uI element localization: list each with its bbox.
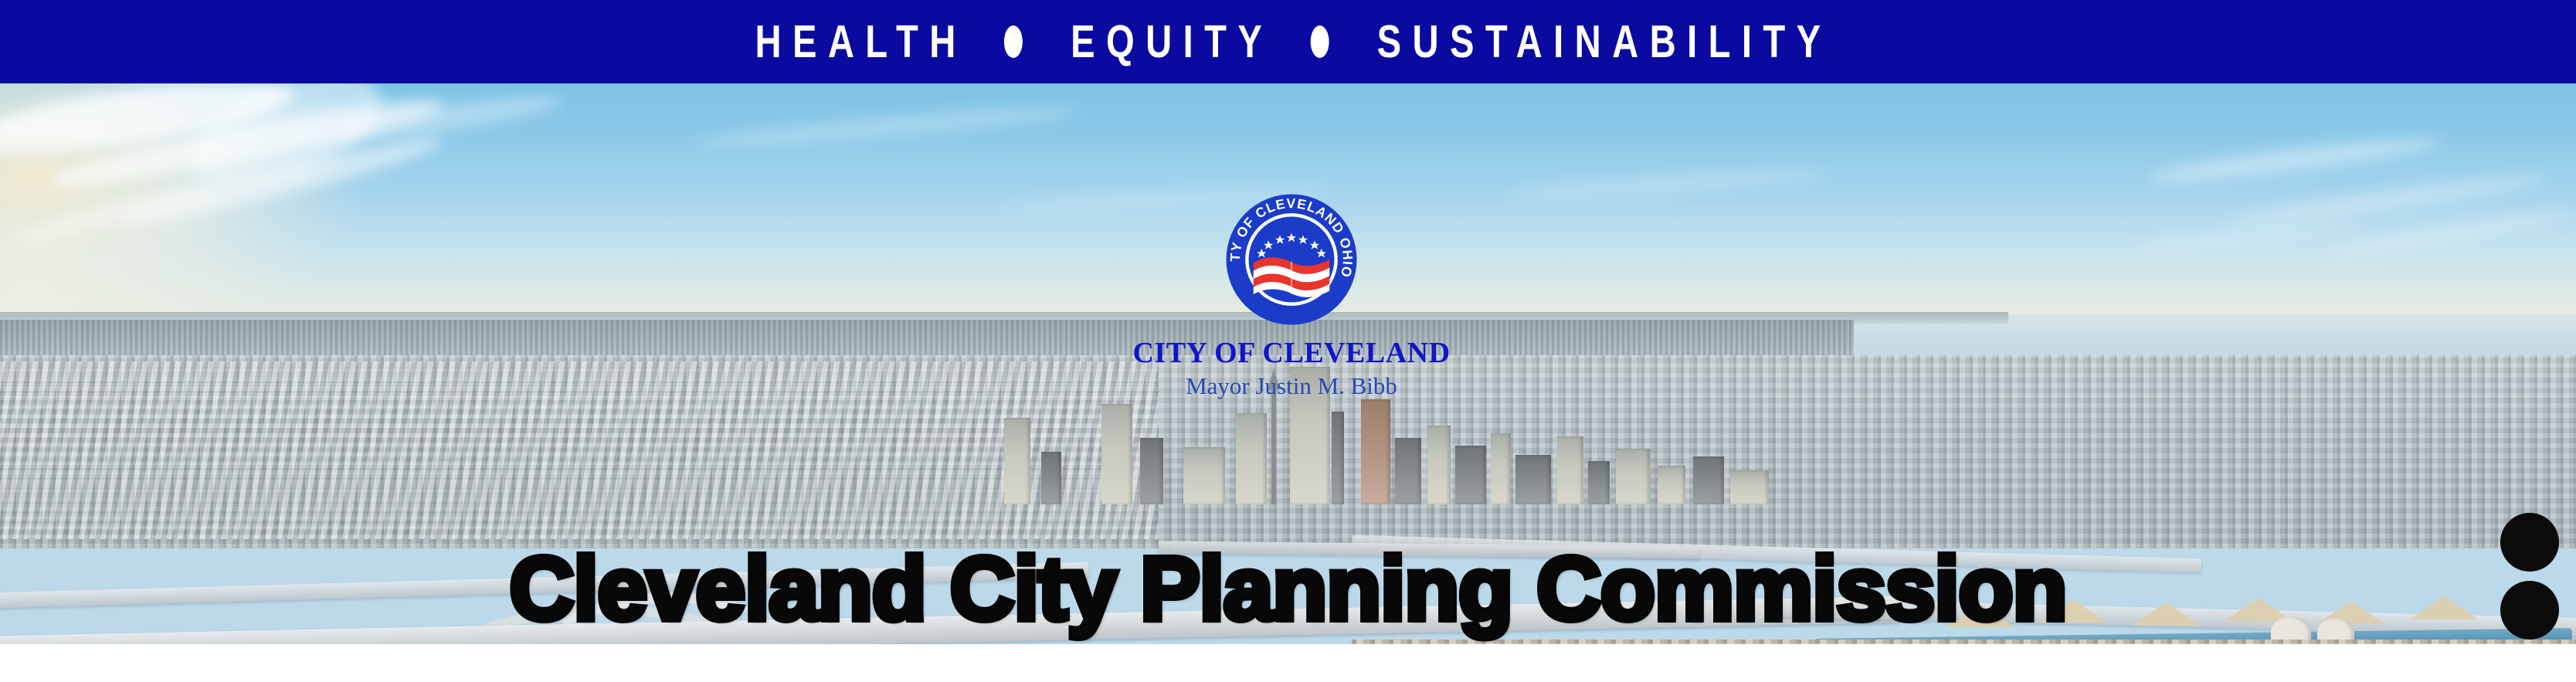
building [1140, 438, 1163, 504]
aggregate-pile [2132, 602, 2200, 626]
building [1730, 470, 1769, 504]
building [1515, 455, 1551, 504]
city-seal-icon: CITY OF CLEVELAND OHIO [1224, 192, 1359, 327]
building [1332, 412, 1344, 504]
building [1455, 446, 1486, 504]
building [1616, 449, 1650, 504]
building [1557, 436, 1583, 504]
building [1427, 426, 1451, 504]
building [1236, 413, 1267, 504]
bullet-dot-icon [1310, 25, 1329, 58]
footer-whitespace [0, 644, 2576, 682]
bullet-dot-icon [1004, 25, 1023, 58]
building [1491, 433, 1511, 504]
building [1693, 456, 1724, 504]
hero-photo-cleveland-aerial: CITY OF CLEVELAND OHIO [0, 83, 2576, 644]
aggregate-pile [2410, 596, 2478, 619]
building [1041, 452, 1061, 504]
building [1183, 447, 1225, 504]
page-title: Cleveland City Planning Commission [510, 544, 2067, 633]
building [1004, 418, 1030, 504]
building [1658, 466, 1685, 504]
tagline-word-health: HEALTH [744, 19, 967, 65]
tagline-banner: HEALTH EQUITY SUSTAINABILITY [0, 0, 2576, 83]
building [1588, 461, 1610, 504]
instagram-icon[interactable] [2500, 581, 2559, 640]
tagline-word-sustainability: SUSTAINABILITY [1366, 19, 1831, 65]
building [1395, 438, 1421, 504]
tagline-word-equity: EQUITY [1060, 19, 1274, 65]
social-links [2500, 513, 2559, 644]
logo-organization-name: CITY OF CLEVELAND [1060, 338, 1523, 369]
tagline-banner-inner: HEALTH EQUITY SUSTAINABILITY [744, 19, 1831, 65]
church-spire [1271, 389, 1276, 504]
logo-mayor-name: Mayor Justin M. Bibb [1060, 373, 1523, 399]
key-tower [1361, 399, 1390, 504]
building [1101, 404, 1132, 504]
snowy-neighborhood-left [0, 361, 1159, 539]
youtube-icon[interactable] [2500, 513, 2559, 572]
city-of-cleveland-logo[interactable]: CITY OF CLEVELAND OHIO [1060, 192, 1523, 399]
